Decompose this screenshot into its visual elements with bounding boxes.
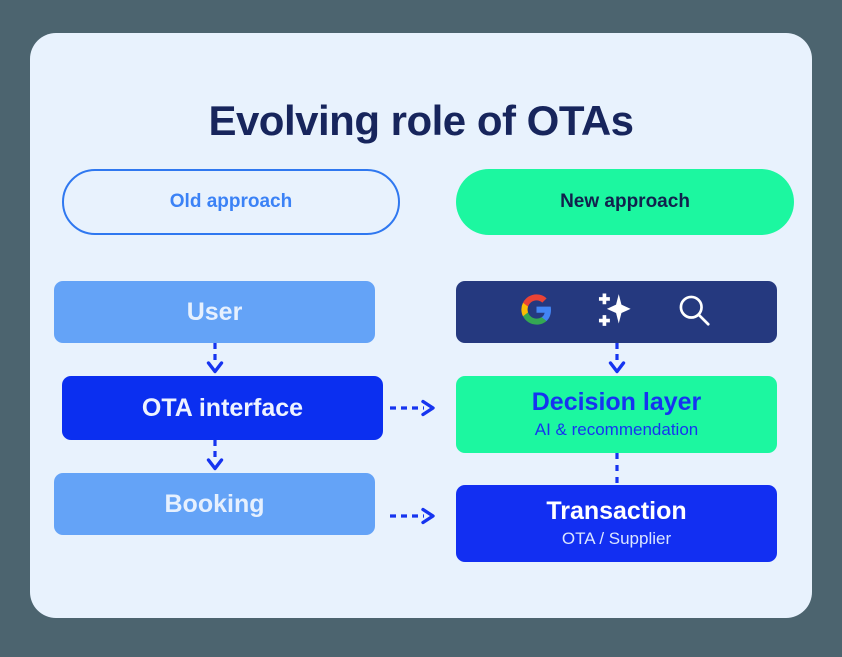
ai-sparkle-icon <box>595 291 633 334</box>
box-decision-layer[interactable]: Decision layer AI & recommendation <box>456 376 777 453</box>
connector-ota-to-decision <box>390 395 442 421</box>
google-g-icon <box>520 293 553 331</box>
box-transaction-title: Transaction <box>546 497 686 526</box>
entry-points-icon-row <box>520 291 713 334</box>
diagram-card: Evolving role of OTAs Old approach New a… <box>30 33 812 618</box>
pill-old-approach-label: Old approach <box>170 191 292 213</box>
box-booking-title: Booking <box>165 490 265 519</box>
box-user[interactable]: User <box>54 281 375 343</box>
diagram-canvas: Evolving role of OTAs Old approach New a… <box>0 0 842 657</box>
box-transaction-subtitle: OTA / Supplier <box>562 529 671 549</box>
box-decision-layer-subtitle: AI & recommendation <box>535 420 698 440</box>
box-ota-interface-title: OTA interface <box>142 394 303 423</box>
connector-decision-to-transaction <box>604 453 630 486</box>
box-transaction[interactable]: Transaction OTA / Supplier <box>456 485 777 562</box>
connector-booking-to-transaction <box>390 503 442 529</box>
page-title: Evolving role of OTAs <box>30 97 812 145</box>
box-user-title: User <box>187 298 243 327</box>
search-magnifier-icon <box>675 291 713 334</box>
box-decision-layer-title: Decision layer <box>532 388 702 417</box>
box-booking[interactable]: Booking <box>54 473 375 535</box>
box-ota-interface[interactable]: OTA interface <box>62 376 383 440</box>
pill-new-approach[interactable]: New approach <box>456 169 794 235</box>
pill-old-approach[interactable]: Old approach <box>62 169 400 235</box>
pill-new-approach-label: New approach <box>560 191 690 213</box>
box-entry-points[interactable] <box>456 281 777 343</box>
connector-user-to-ota <box>202 343 228 377</box>
connector-ota-to-booking <box>202 440 228 474</box>
connector-entry-to-decision <box>604 343 630 377</box>
